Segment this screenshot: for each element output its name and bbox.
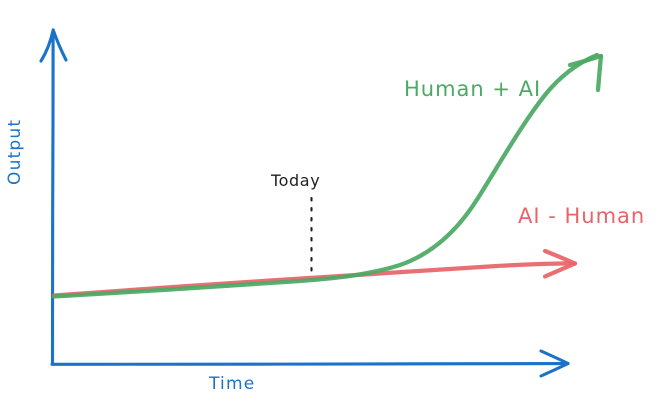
human-plus-ai-arrowhead-left [570, 56, 601, 65]
x-axis-label: Time [209, 374, 255, 394]
x-axis-arrowhead-bottom [541, 364, 568, 377]
x-axis-arrowhead-top [541, 351, 568, 364]
y-axis-line [52, 33, 53, 364]
y-axis-arrowhead-right [53, 30, 66, 60]
diagram-canvas: Output Time Today Human + AI AI - Human [0, 0, 666, 412]
x-axis [52, 351, 568, 376]
y-axis-label: Output [5, 119, 25, 185]
y-axis-arrowhead-left [41, 30, 53, 61]
today-label: Today [271, 171, 320, 190]
series-label-human-plus-ai: Human + AI [404, 77, 541, 101]
y-axis [41, 30, 66, 364]
series-label-ai-minus-human: AI - Human [518, 204, 645, 228]
x-axis-line [52, 364, 567, 365]
human-plus-ai-arrowhead-down [598, 56, 601, 90]
series-line-ai-minus-human [54, 251, 575, 296]
